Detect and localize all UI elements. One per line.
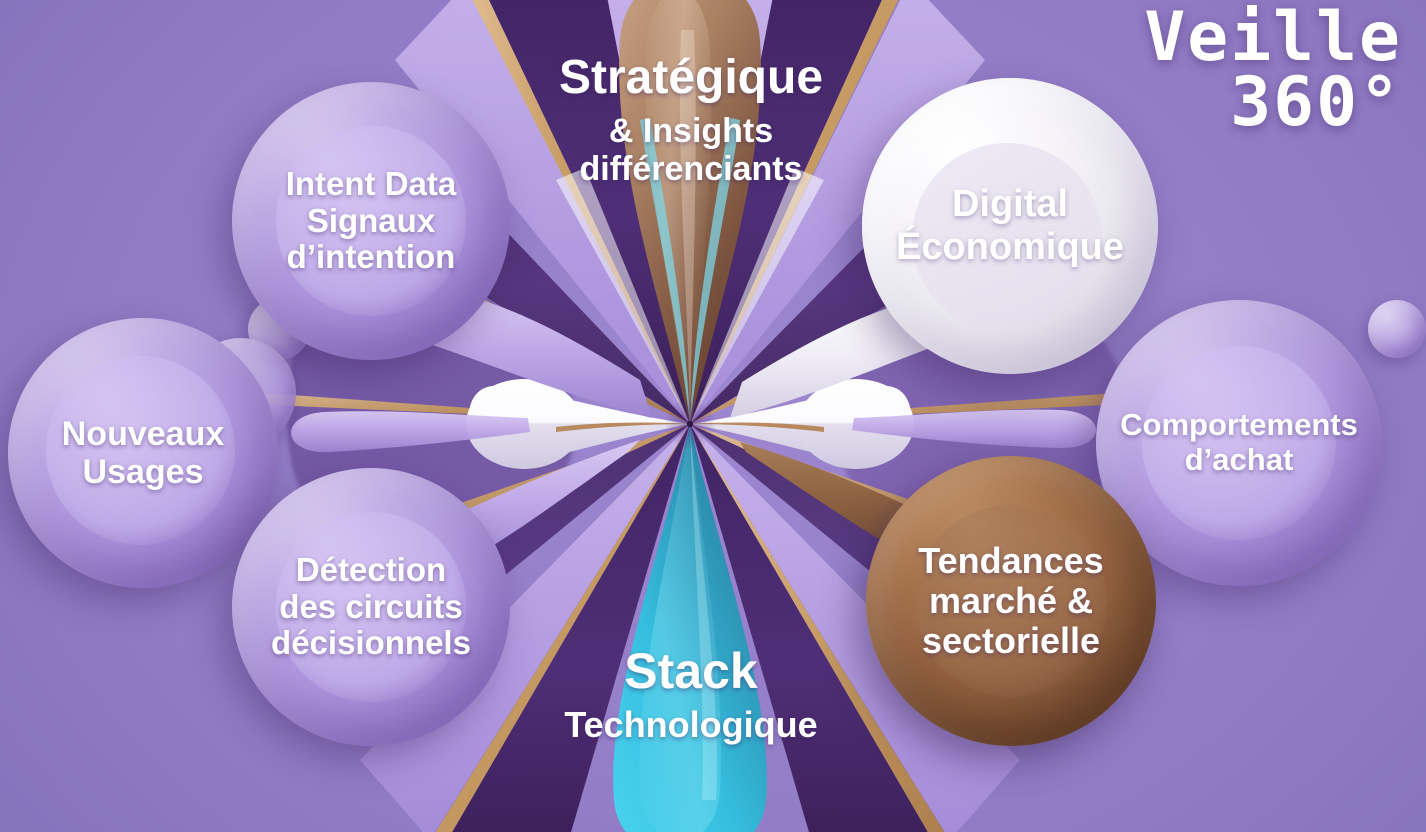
comportements-line-2: d’achat <box>1106 443 1372 478</box>
strategique-line-1: & Insights <box>510 112 872 150</box>
strategique-line-2: différenciants <box>510 150 872 188</box>
intent-line-1: Intent Data <box>242 166 500 203</box>
node-digital-economique[interactable]: Digital Économique <box>862 78 1158 374</box>
center-hub-point <box>687 421 693 427</box>
node-intent-data[interactable]: Intent Data Signaux d’intention <box>232 82 510 360</box>
nouveaux-line-1: Nouveaux <box>18 415 268 453</box>
detection-line-2: des circuits <box>242 589 500 626</box>
comportements-line-1: Comportements <box>1106 408 1372 443</box>
node-nouveaux-usages-label: Nouveaux Usages <box>18 415 268 491</box>
node-digital-economique-label: Digital Économique <box>872 183 1148 268</box>
tendances-line-1: Tendances <box>876 541 1146 581</box>
digital-line-1: Digital <box>872 183 1148 226</box>
infographic-canvas: Intent Data Signaux d’intention Nouveaux… <box>0 0 1426 832</box>
strategique-title: Stratégique <box>510 52 872 104</box>
node-detection-circuits[interactable]: Détection des circuits décisionnels <box>232 468 510 746</box>
node-nouveaux-usages[interactable]: Nouveaux Usages <box>8 318 278 588</box>
node-detection-circuits-label: Détection des circuits décisionnels <box>242 552 500 663</box>
node-intent-data-label: Intent Data Signaux d’intention <box>242 166 500 277</box>
stack-title: Stack <box>510 644 872 699</box>
nouveaux-line-2: Usages <box>18 453 268 491</box>
node-tendances-marche[interactable]: Tendances marché & sectorielle <box>866 456 1156 746</box>
tendances-line-2: marché & <box>876 581 1146 621</box>
intent-line-3: d’intention <box>242 239 500 276</box>
stack-line-1: Technologique <box>510 705 872 745</box>
node-tendances-marche-label: Tendances marché & sectorielle <box>876 541 1146 662</box>
node-comportements-achat-label: Comportements d’achat <box>1106 408 1372 477</box>
digital-line-2: Économique <box>872 226 1148 269</box>
detection-line-1: Détection <box>242 552 500 589</box>
node-strategique-label: Stratégique & Insights différenciants <box>510 52 872 188</box>
node-strategique[interactable]: Stratégique & Insights différenciants <box>500 20 882 220</box>
title-line-1: Veille <box>1144 6 1402 71</box>
node-stack-technologique[interactable]: Stack Technologique <box>500 615 882 775</box>
title-line-2: 360° <box>1144 71 1402 136</box>
tendances-line-3: sectorielle <box>876 621 1146 661</box>
node-stack-technologique-label: Stack Technologique <box>510 644 872 745</box>
detection-line-3: décisionnels <box>242 625 500 662</box>
bubble-small-right <box>1368 300 1426 358</box>
page-title: Veille 360° <box>1144 6 1402 135</box>
intent-line-2: Signaux <box>242 203 500 240</box>
